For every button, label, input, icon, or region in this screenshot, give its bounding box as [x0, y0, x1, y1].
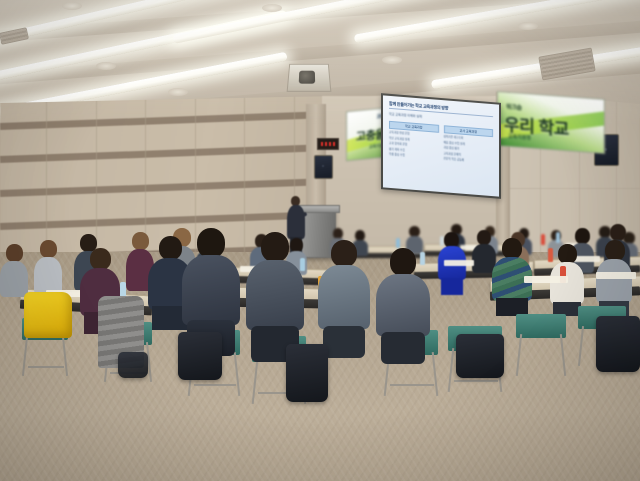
yellow-jacket-on-chair: [24, 292, 72, 338]
audience-member: [246, 232, 304, 362]
audience-member: [0, 244, 28, 296]
banner-right: 워크숍 우리 학교 교육지원청: [497, 91, 605, 154]
banner-right-subline: 교육지원청: [508, 133, 531, 142]
water-bottle: [541, 234, 545, 245]
slide-column: 학교 교육과정 교육과정 편성 운영 학년 교육과정 설계 교과 협의회 운영 …: [389, 121, 439, 160]
audience-member: [376, 248, 430, 364]
downlight-icon: [96, 62, 116, 70]
downlight-icon: [168, 88, 188, 96]
paper-sheet: [444, 260, 474, 266]
floor-bag: [596, 316, 640, 372]
slide-column: 교사 교육과정 성취기준 재구조화 배움 중심 수업 설계 과정 중심 평가 교…: [444, 125, 494, 164]
downlight-icon: [518, 22, 538, 30]
downlight-icon: [62, 2, 82, 10]
floor-bag: [286, 344, 328, 402]
audience-member: [34, 240, 62, 294]
floor-bag: [178, 332, 222, 380]
paper-sheet: [596, 272, 636, 279]
floor-bag: [456, 334, 504, 378]
downlight-icon: [262, 4, 282, 12]
audience-member: [318, 240, 370, 358]
projection-screen: 함께 만들어가는 학교 교육과정의 방향 학교 교육과정 이해와 실제 학교 교…: [381, 93, 501, 199]
floor-bag: [118, 352, 148, 378]
water-bottle: [556, 232, 560, 243]
downlight-icon: [382, 56, 402, 64]
wall-speaker-left: [314, 155, 333, 179]
led-clock-display: [317, 138, 339, 150]
water-bottle: [396, 238, 400, 248]
photo-scene: 2019 고충을 담 교육지원 워크숍 우리 학교 교육지원청 함께 만들어가는…: [0, 0, 640, 481]
paper-sheet: [524, 276, 568, 283]
ceiling-projector: [287, 64, 332, 92]
folding-chair: [516, 314, 566, 376]
